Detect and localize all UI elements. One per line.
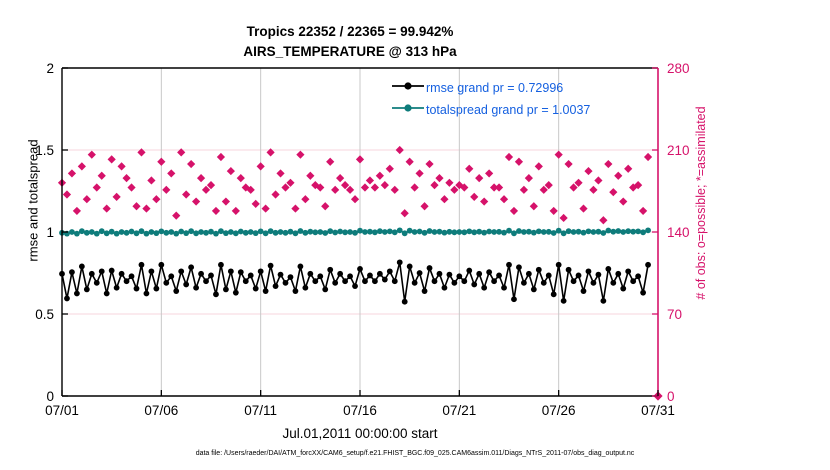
series-point (412, 229, 418, 235)
series-point (99, 268, 105, 274)
obs-count-marker (271, 190, 279, 198)
series-point (327, 228, 333, 234)
y-tick-label: 0.5 (35, 307, 54, 322)
series-point (248, 273, 254, 279)
series-point (89, 271, 95, 277)
series-point (536, 228, 542, 234)
series-point (273, 283, 279, 289)
obs-count-marker (167, 169, 175, 177)
legend-label-totalspread: totalspread grand pr = 1.0037 (426, 103, 590, 117)
series-point (581, 230, 587, 236)
series-point (372, 229, 378, 235)
obs-count-marker (555, 151, 563, 159)
obs-count-marker (356, 155, 364, 163)
series-point (392, 229, 398, 235)
series-point (591, 280, 597, 286)
series-point (645, 227, 651, 233)
series-point (228, 268, 234, 274)
series-point (456, 229, 462, 235)
series-point (586, 228, 592, 234)
obs-count-marker (73, 207, 81, 215)
legend-label-rmse: rmse grand pr = 0.72996 (426, 81, 563, 95)
series-point (357, 266, 363, 272)
series-point (392, 278, 398, 284)
y-tick-label: 0 (46, 389, 54, 404)
x-tick-label: 07/01 (45, 403, 79, 418)
obs-count-marker (172, 212, 180, 220)
series-point (640, 229, 646, 235)
obs-count-marker (336, 174, 344, 182)
series-point (208, 229, 214, 235)
series-point (293, 230, 299, 236)
series-point (139, 228, 145, 234)
obs-count-marker (550, 207, 558, 215)
obs-count-marker (520, 186, 528, 194)
series-point (551, 291, 557, 297)
series-point (347, 229, 353, 235)
series-point (551, 230, 557, 236)
series-point (422, 230, 428, 236)
obs-count-marker (420, 202, 428, 210)
series-point (134, 286, 140, 292)
series-point (615, 271, 621, 277)
series-point (347, 273, 353, 279)
series-point (158, 262, 164, 268)
series-point (387, 228, 393, 234)
series-point (312, 229, 318, 235)
legend-marker-totalspread (404, 104, 411, 111)
series-point (620, 286, 626, 292)
series-point (461, 229, 467, 235)
series-point (139, 262, 145, 268)
series-point (153, 286, 159, 292)
series-point (526, 271, 532, 277)
series-point (596, 272, 602, 278)
series-point (625, 228, 631, 234)
x-tick-label: 07/16 (343, 403, 377, 418)
obs-count-marker (445, 179, 453, 187)
obs-count-marker (396, 146, 404, 154)
series-point (427, 228, 433, 234)
series-point (362, 229, 368, 235)
data-file-caption: data file: /Users/raeder/DAI/ATM_forcXX/… (0, 450, 830, 457)
series-point (158, 228, 164, 234)
series-point (213, 231, 219, 237)
y-axis-label: rmse and totalspread (26, 106, 41, 296)
obs-count-marker (401, 209, 409, 217)
obs-count-marker (291, 204, 299, 212)
series-point (317, 229, 323, 235)
series-point (203, 230, 209, 236)
series-point (397, 227, 403, 233)
series-point (273, 230, 279, 236)
y2-tick-label: 210 (667, 143, 690, 158)
obs-count-marker (252, 200, 260, 208)
obs-count-marker (614, 172, 622, 180)
series-point (476, 271, 482, 277)
series-point (307, 229, 313, 235)
series-point (596, 229, 602, 235)
series-point (278, 229, 284, 235)
series-point (417, 270, 423, 276)
series-point (437, 271, 443, 277)
series-point (432, 229, 438, 235)
series-point (546, 273, 552, 279)
obs-count-marker (381, 181, 389, 189)
obs-count-marker (262, 204, 270, 212)
obs-count-marker (222, 197, 230, 205)
series-point (367, 273, 373, 279)
series-point (149, 229, 155, 235)
obs-count-marker (515, 158, 523, 166)
series-point (64, 296, 70, 302)
series-point (382, 229, 388, 235)
series-point (119, 229, 125, 235)
series-point (342, 229, 348, 235)
series-point (198, 229, 204, 235)
obs-count-marker (326, 158, 334, 166)
series-point (571, 278, 577, 284)
series-point (223, 230, 229, 236)
series-point (561, 230, 567, 236)
series-point (198, 271, 204, 277)
series-point (144, 291, 150, 297)
obs-count-marker (430, 181, 438, 189)
series-point (437, 229, 443, 235)
obs-count-marker (565, 160, 573, 168)
series-point (253, 286, 259, 292)
series-line (62, 262, 648, 301)
obs-count-marker (535, 162, 543, 170)
obs-count-marker (465, 165, 473, 173)
obs-count-marker (376, 172, 384, 180)
series-point (566, 267, 572, 273)
series-point (283, 280, 289, 286)
obs-count-marker (306, 172, 314, 180)
series-point (556, 228, 562, 234)
series-point (491, 229, 497, 235)
obs-count-marker (132, 202, 140, 210)
series-point (377, 271, 383, 277)
obs-count-marker (88, 151, 96, 159)
series-point (268, 263, 274, 269)
obs-count-marker (177, 148, 185, 156)
obs-count-marker (68, 169, 76, 177)
series-point (407, 264, 413, 270)
y2-tick-label: 140 (667, 225, 690, 240)
series-point (402, 230, 408, 236)
series-point (447, 229, 453, 235)
series-point (471, 282, 477, 288)
series-point (94, 280, 100, 286)
series-point (173, 231, 179, 237)
y-tick-label: 2 (46, 61, 54, 76)
x-tick-label: 07/31 (641, 403, 675, 418)
series-point (422, 288, 428, 294)
obs-count-marker (579, 204, 587, 212)
obs-count-marker (525, 174, 533, 182)
obs-count-marker (589, 186, 597, 194)
series-point (119, 271, 125, 277)
series-point (531, 230, 537, 236)
series-point (442, 285, 448, 291)
series-point (233, 290, 239, 296)
obs-count-marker (480, 197, 488, 205)
obs-count-marker (425, 160, 433, 168)
obs-count-marker (83, 195, 91, 203)
series-point (144, 231, 150, 237)
series-point (417, 229, 423, 235)
series-point (630, 278, 636, 284)
series-point (461, 278, 467, 284)
series-point (293, 288, 299, 294)
obs-count-marker (599, 216, 607, 224)
series-point (223, 287, 229, 293)
series-point (89, 229, 95, 235)
series-point (571, 229, 577, 235)
series-point (114, 231, 120, 237)
series-point (302, 230, 308, 236)
series-point (193, 230, 199, 236)
series-point (99, 228, 105, 234)
series-point (258, 228, 264, 234)
obs-count-marker (361, 183, 369, 191)
series-point (208, 273, 214, 279)
series-point (114, 285, 120, 291)
series-point (218, 228, 224, 234)
y2-tick-label: 280 (667, 61, 690, 76)
figure-canvas: Tropics 22352 / 22365 = 99.942% AIRS_TEM… (0, 0, 830, 470)
obs-count-marker (108, 155, 116, 163)
series-point (640, 290, 646, 296)
series-point (372, 278, 378, 284)
series-point (238, 269, 244, 275)
series-point (124, 230, 130, 236)
series-point (124, 278, 130, 284)
obs-count-marker (321, 202, 329, 210)
series-point (342, 278, 348, 284)
obs-count-marker (495, 183, 503, 191)
obs-count-marker (197, 174, 205, 182)
series-point (69, 269, 75, 275)
y2-tick-label: 0 (667, 389, 675, 404)
obs-count-marker (584, 167, 592, 175)
obs-count-marker (147, 176, 155, 184)
y2-axis-label: # of obs: o=possible; *=assimilated (694, 88, 708, 318)
series-point (581, 288, 587, 294)
obs-count-marker (257, 162, 265, 170)
series-point (610, 280, 616, 286)
series-point (605, 266, 611, 272)
series-point (322, 230, 328, 236)
obs-count-marker (113, 193, 121, 201)
series-point (630, 229, 636, 235)
obs-count-marker (331, 186, 339, 194)
obs-count-marker (619, 197, 627, 205)
series-point (243, 230, 249, 236)
series-point (312, 278, 318, 284)
x-tick-label: 07/26 (542, 403, 576, 418)
series-point (407, 228, 413, 234)
series-point (163, 280, 169, 286)
series-point (476, 229, 482, 235)
obs-count-marker (182, 190, 190, 198)
series-point (377, 228, 383, 234)
series-point (511, 230, 517, 236)
series-point (84, 287, 90, 293)
y-tick-label: 1 (46, 225, 54, 240)
series-point (367, 229, 373, 235)
series-point (178, 229, 184, 235)
series-point (481, 230, 487, 236)
series-point (183, 282, 189, 288)
series-point (531, 287, 537, 293)
series-point (357, 228, 363, 234)
obs-count-marker (604, 160, 612, 168)
series-point (506, 228, 512, 234)
obs-count-marker (63, 190, 71, 198)
x-tick-label: 07/06 (144, 403, 178, 418)
obs-count-marker (624, 165, 632, 173)
series-point (541, 280, 547, 286)
series-point (213, 291, 219, 297)
series-point (307, 271, 313, 277)
series-point (615, 228, 621, 234)
obs-count-marker (152, 195, 160, 203)
series-point (536, 267, 542, 273)
series-point (501, 285, 507, 291)
series-point (337, 271, 343, 277)
series-point (263, 288, 269, 294)
series-point (94, 231, 100, 237)
series-point (317, 273, 323, 279)
series-point (486, 269, 492, 275)
obs-count-marker (267, 148, 275, 156)
obs-count-marker (391, 186, 399, 194)
series-point (556, 262, 562, 268)
series-point (288, 274, 294, 280)
obs-count-marker (560, 214, 568, 222)
series-point (466, 268, 472, 274)
obs-count-marker (510, 207, 518, 215)
obs-count-marker (118, 162, 126, 170)
obs-count-marker (500, 195, 508, 203)
x-tick-label: 07/21 (442, 403, 476, 418)
obs-count-marker (371, 183, 379, 191)
series-point (188, 228, 194, 234)
series-point (451, 229, 457, 235)
series-point (69, 229, 75, 235)
series-point (352, 283, 358, 289)
series-point (466, 228, 472, 234)
obs-count-marker (192, 197, 200, 205)
series-point (501, 230, 507, 236)
obs-count-marker (505, 153, 513, 161)
obs-count-marker (416, 169, 424, 177)
obs-count-marker (78, 162, 86, 170)
series-point (362, 278, 368, 284)
series-point (109, 229, 115, 235)
obs-count-marker (212, 207, 220, 215)
series-point (332, 280, 338, 286)
series-point (258, 268, 264, 274)
series-point (79, 264, 85, 270)
obs-count-marker (137, 148, 145, 156)
obs-count-marker (296, 151, 304, 159)
series-point (432, 278, 438, 284)
obs-count-marker (157, 158, 165, 166)
series-point (397, 259, 403, 265)
series-point (248, 229, 254, 235)
series-point (447, 272, 453, 278)
obs-count-marker (411, 183, 419, 191)
series-point (218, 262, 224, 268)
series-point (288, 229, 294, 235)
obs-count-marker (639, 207, 647, 215)
obs-count-marker (142, 204, 150, 212)
series-point (620, 229, 626, 235)
series-point (153, 230, 159, 236)
series-point (412, 280, 418, 286)
series-point (486, 229, 492, 235)
series-point (253, 230, 259, 236)
obs-count-marker (187, 160, 195, 168)
obs-count-marker (351, 195, 359, 203)
series-point (263, 230, 269, 236)
series-point (149, 268, 155, 274)
y2-tick-label: 70 (667, 307, 682, 322)
series-point (79, 228, 85, 234)
series-point (591, 229, 597, 235)
series-point (173, 288, 179, 294)
obs-count-marker (127, 183, 135, 191)
series-point (382, 277, 388, 283)
series-point (74, 231, 80, 237)
series-point (238, 229, 244, 235)
series-point (561, 298, 567, 304)
series-point (427, 265, 433, 271)
obs-count-marker (435, 174, 443, 182)
obs-count-marker (406, 158, 414, 166)
obs-count-marker (237, 174, 245, 182)
series-point (178, 268, 184, 274)
obs-count-marker (530, 202, 538, 210)
series-point (610, 229, 616, 235)
legend-marker-rmse (404, 82, 411, 89)
obs-count-marker (644, 153, 652, 161)
series-point (134, 230, 140, 236)
series-point (352, 230, 358, 236)
series-point (645, 262, 651, 268)
series-point (188, 264, 194, 270)
x-axis-label: Jul.01,2011 00:00:00 start (62, 426, 658, 441)
series-point (451, 280, 457, 286)
series-point (566, 228, 572, 234)
series-point (74, 291, 80, 297)
series-point (268, 228, 274, 234)
obs-count-marker (227, 167, 235, 175)
series-point (193, 285, 199, 291)
obs-count-marker (470, 193, 478, 201)
obs-count-marker (232, 207, 240, 215)
series-point (576, 273, 582, 279)
series-point (541, 229, 547, 235)
series-point (402, 299, 408, 305)
obs-count-marker (475, 174, 483, 182)
series-point (337, 229, 343, 235)
series-point (516, 228, 522, 234)
obs-count-marker (93, 183, 101, 191)
